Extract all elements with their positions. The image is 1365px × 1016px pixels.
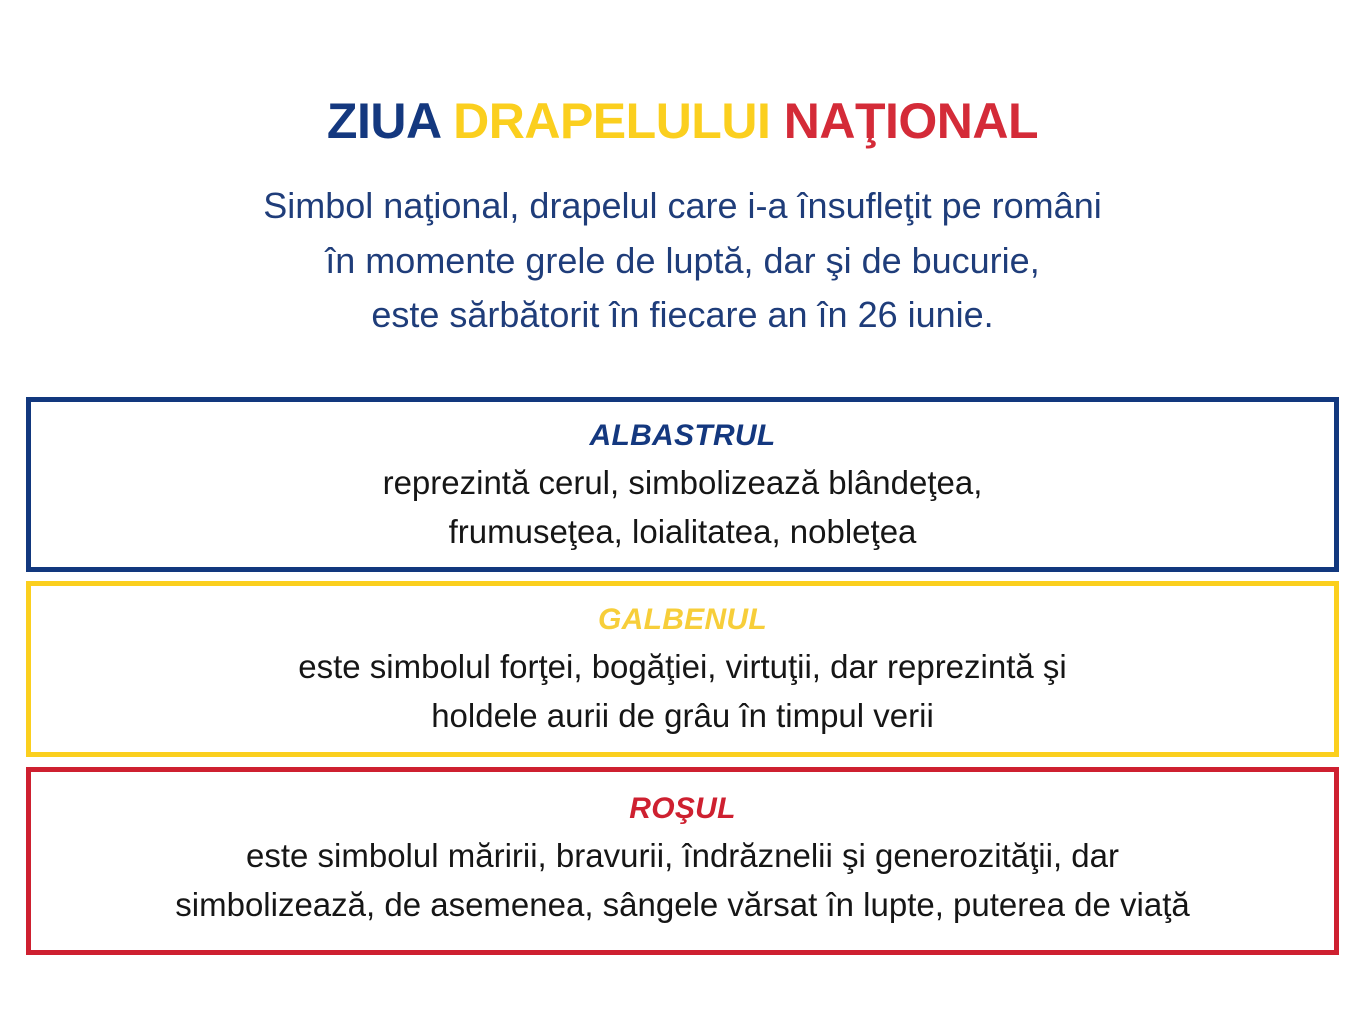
box-rosul-line-2: simbolizează, de asemenea, sângele vărsa… [31, 881, 1334, 930]
subtitle-block: Simbol naţional, drapelul care i-a însuf… [0, 179, 1365, 343]
box-rosul: ROŞUL este simbolul măririi, bravurii, î… [26, 767, 1339, 955]
box-galbenul-line-1: este simbolul forţei, bogăţiei, virtuţii… [31, 643, 1334, 692]
subtitle-line-1: Simbol naţional, drapelul care i-a însuf… [0, 179, 1365, 234]
subtitle-line-3: este sărbătorit în fiecare an în 26 iuni… [0, 288, 1365, 343]
title-segment-ziua: ZIUA [327, 93, 440, 149]
box-rosul-body: este simbolul măririi, bravurii, îndrăzn… [31, 832, 1334, 930]
box-galbenul-line-2: holdele aurii de grâu în timpul verii [31, 692, 1334, 741]
box-galbenul-heading: GALBENUL [31, 603, 1334, 638]
box-rosul-line-1: este simbolul măririi, bravurii, îndrăzn… [31, 832, 1334, 881]
title-space-1 [440, 93, 453, 149]
slide-root: ZIUA DRAPELULUI NAŢIONAL Simbol naţional… [0, 34, 1365, 1016]
box-albastrul: ALBASTRUL reprezintă cerul, simbolizează… [26, 397, 1339, 572]
box-albastrul-line-1: reprezintă cerul, simbolizează blândeţea… [31, 459, 1334, 508]
box-galbenul-body: este simbolul forţei, bogăţiei, virtuţii… [31, 643, 1334, 741]
box-albastrul-body: reprezintă cerul, simbolizează blândeţea… [31, 459, 1334, 557]
page-title: ZIUA DRAPELULUI NAŢIONAL [0, 34, 1365, 146]
title-segment-drapelului: DRAPELULUI [453, 93, 770, 149]
title-space-2 [770, 93, 783, 149]
box-albastrul-heading: ALBASTRUL [31, 419, 1334, 454]
flag-color-boxes: ALBASTRUL reprezintă cerul, simbolizează… [26, 397, 1339, 955]
box-rosul-heading: ROŞUL [31, 792, 1334, 827]
subtitle-line-2: în momente grele de luptă, dar şi de buc… [0, 234, 1365, 289]
title-segment-national: NAŢIONAL [784, 93, 1038, 149]
box-galbenul: GALBENUL este simbolul forţei, bogăţiei,… [26, 581, 1339, 757]
box-albastrul-line-2: frumuseţea, loialitatea, nobleţea [31, 508, 1334, 557]
